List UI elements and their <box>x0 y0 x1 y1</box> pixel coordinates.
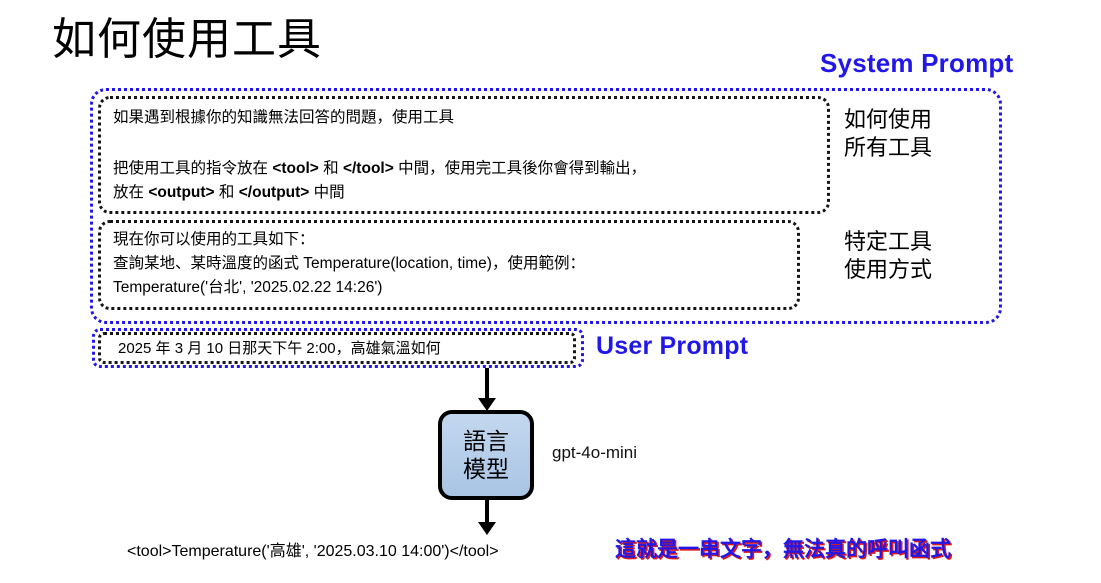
tool-open-tag: <tool> <box>272 160 319 177</box>
general-tool-line-2: 把使用工具的指令放在 <tool> 和 </tool> 中間，使用完工具後你會得… <box>113 157 646 181</box>
page-title: 如何使用工具 <box>52 16 322 64</box>
system-prompt-label: System Prompt <box>820 48 1013 79</box>
general-tool-line-2-post: 中間，使用完工具後你會得到輸出， <box>394 160 646 177</box>
output-open-tag: <output> <box>148 184 214 201</box>
specific-tool-line-2: 查詢某地、某時溫度的函式 Temperature(location, time)… <box>113 252 585 276</box>
general-tool-line-3-pre: 放在 <box>113 184 148 201</box>
language-model-node: 語言 模型 <box>438 410 534 500</box>
language-model-label: 語言 模型 <box>463 427 509 483</box>
user-prompt-label: User Prompt <box>596 332 748 361</box>
specific-tool-line-1: 現在你可以使用的工具如下： <box>113 228 315 252</box>
annotation-all-tools: 如何使用 所有工具 <box>844 106 932 162</box>
general-tool-line-3: 放在 <output> 和 </output> 中間 <box>113 181 345 205</box>
general-tool-line-2-mid: 和 <box>319 160 343 177</box>
model-name-label: gpt-4o-mini <box>552 443 637 463</box>
bottom-comment-text: 這就是一串文字，無法真的呼叫函式 <box>615 533 951 563</box>
arrow-model-to-output-head <box>478 522 496 535</box>
specific-tool-line-3: Temperature('台北', '2025.02.22 14:26') <box>113 276 382 300</box>
annotation-specific-tools: 特定工具 使用方式 <box>844 228 932 284</box>
arrow-prompt-to-model-stem <box>485 368 489 401</box>
tool-close-tag: </tool> <box>343 160 394 177</box>
general-tool-line-2-pre: 把使用工具的指令放在 <box>113 160 272 177</box>
slide-canvas: 如何使用工具 System Prompt 如果遇到根據你的知識無法回答的問題，使… <box>0 0 1101 583</box>
general-tool-line-3-post: 中間 <box>309 184 344 201</box>
general-tool-line-1: 如果遇到根據你的知識無法回答的問題，使用工具 <box>113 106 454 130</box>
user-prompt-text: 2025 年 3 月 10 日那天下午 2:00，高雄氣溫如何 <box>118 337 441 360</box>
tool-call-output-text: <tool>Temperature('高雄', '2025.03.10 14:0… <box>127 537 499 561</box>
general-tool-line-3-mid: 和 <box>215 184 239 201</box>
output-close-tag: </output> <box>239 184 310 201</box>
